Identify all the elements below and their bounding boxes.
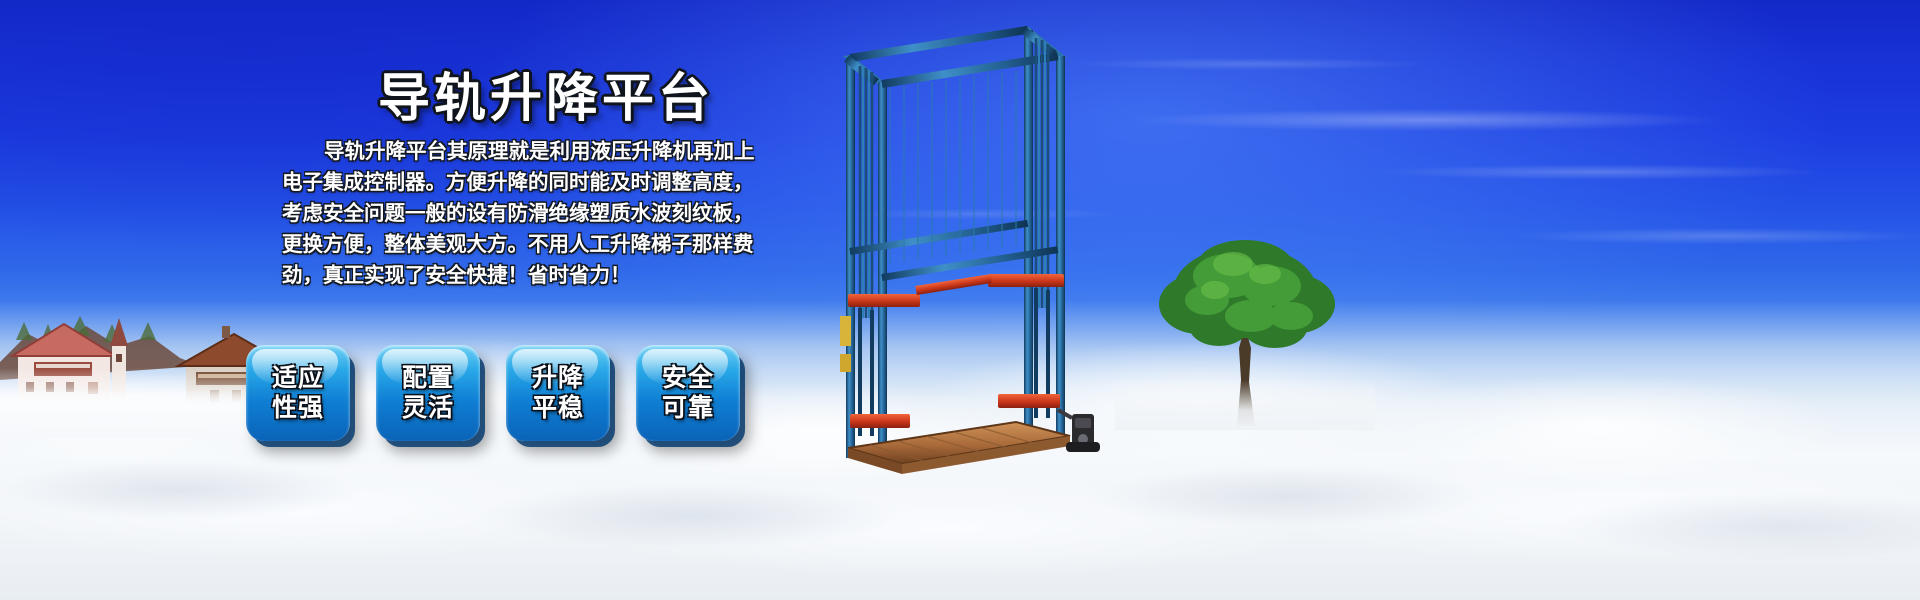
lone-tree <box>1115 230 1375 430</box>
tree-illustration <box>1115 230 1375 430</box>
description-paragraph: 导轨升降平台其原理就是利用液压升降机再加上 电子集成控制器。方便升降的同时能及时… <box>282 136 762 291</box>
lift-machine-illustration <box>820 18 1120 478</box>
feature-button-adaptability[interactable]: 适应 性强 <box>246 345 350 441</box>
promo-banner: 导轨升降平台 导轨升降平台其原理就是利用液压升降机再加上 电子集成控制器。方便升… <box>0 0 1920 600</box>
description-line-4: 更换方便，整体美观大方。不用人工升降梯子那样费 <box>282 229 762 260</box>
feature-label: 安全 可靠 <box>662 363 714 423</box>
feature-label: 适应 性强 <box>272 363 324 423</box>
feature-label: 升降 平稳 <box>532 363 584 423</box>
description-line-3: 考虑安全问题一般的设有防滑绝缘塑质水波刻纹板， <box>282 198 762 229</box>
feature-button-smooth-lift[interactable]: 升降 平稳 <box>506 345 610 441</box>
description-line-5: 劲，真正实现了安全快捷！省时省力！ <box>282 260 762 291</box>
guide-rail-lift-platform-machine <box>820 18 1120 478</box>
feature-label: 配置 灵活 <box>402 363 454 423</box>
description-line-2: 电子集成控制器。方便升降的同时能及时调整高度， <box>282 167 762 198</box>
page-title: 导轨升降平台 <box>378 56 714 131</box>
feature-button-safety[interactable]: 安全 可靠 <box>636 345 740 441</box>
feature-button-group: 适应 性强 配置 灵活 升降 平稳 安全 可靠 <box>246 345 740 441</box>
description-line-1: 导轨升降平台其原理就是利用液压升降机再加上 <box>282 136 762 167</box>
feature-button-configuration[interactable]: 配置 灵活 <box>376 345 480 441</box>
